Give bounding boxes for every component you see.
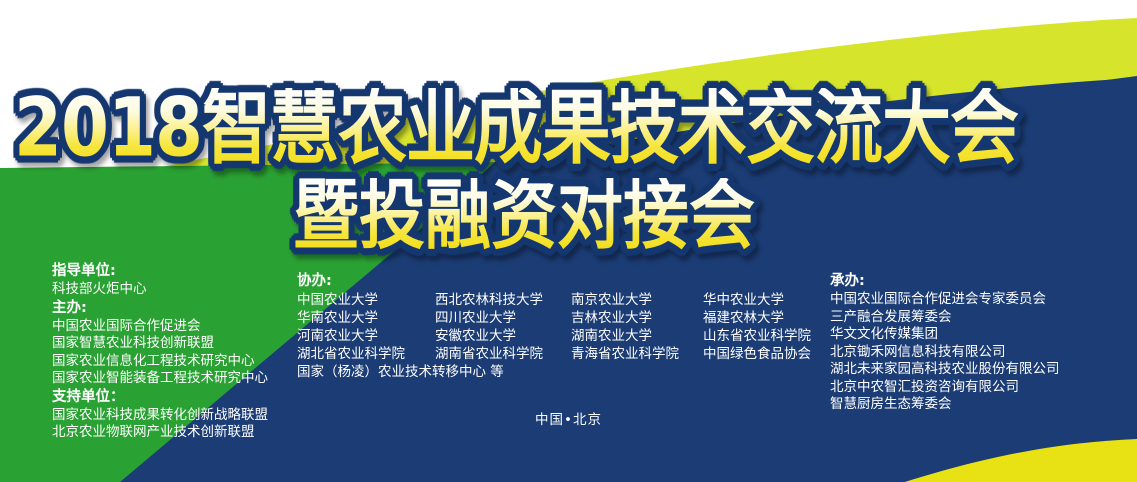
co-organizer-grid: 中国农业大学 西北农林科技大学 南京农业大学 华中农业大学 华南农业大学 四川农… — [297, 291, 811, 381]
co-organizer-cell: 湖北省农业科学院 — [297, 345, 435, 363]
left-header-support: 支持单位： — [52, 388, 268, 407]
co-organizer-cell: 四川农业大学 — [435, 309, 571, 327]
co-organizer-cell: 青海省农业科学院 — [571, 345, 703, 363]
co-organizer-cell: 湖南省农业科学院 — [435, 345, 571, 363]
left-header-host: 主办: — [52, 299, 268, 318]
co-organizer-cell: 西北农林科技大学 — [435, 291, 571, 309]
co-organizer-cell: 山东省农业科学院 — [703, 327, 811, 345]
undertakers-right-column: 承办: 中国农业国际合作促进会专家委员会 三产融合发展筹委会 华文文化传媒集团 … — [830, 272, 1060, 414]
left-line-guidance-1: 科技部火炬中心 — [52, 281, 268, 299]
left-line-host-1: 中国农业国际合作促进会 — [52, 318, 268, 336]
undertaker-line: 三产融合发展筹委会 — [830, 309, 1060, 327]
venue-label: 中国•北京 — [0, 408, 1137, 428]
co-organizer-cell: 吉林农业大学 — [571, 309, 703, 327]
undertaker-line: 华文文化传媒集团 — [830, 326, 1060, 344]
co-organizer-last-line: 国家（杨凌）农业技术转移中心 等 — [297, 363, 811, 381]
co-organizers-middle-column: 协办: 中国农业大学 西北农林科技大学 南京农业大学 华中农业大学 华南农业大学… — [297, 272, 811, 381]
undertaker-line: 北京锄禾网信息科技有限公司 — [830, 344, 1060, 362]
co-organizer-cell: 河南农业大学 — [297, 327, 435, 345]
co-organizer-cell: 华南农业大学 — [297, 309, 435, 327]
right-header-undertaker: 承办: — [830, 272, 1060, 291]
co-organizer-cell: 华中农业大学 — [703, 291, 811, 309]
undertaker-line: 中国农业国际合作促进会专家委员会 — [830, 291, 1060, 309]
co-organizer-cell: 南京农业大学 — [571, 291, 703, 309]
undertaker-line: 北京中农智汇投资咨询有限公司 — [830, 379, 1060, 397]
co-organizer-cell: 中国绿色食品协会 — [703, 345, 811, 363]
co-organizer-cell: 安徽农业大学 — [435, 327, 571, 345]
conference-banner: 2018智慧农业成果技术交流大会 暨投融资对接会 指导单位: 科技部火炬中心 主… — [0, 0, 1137, 482]
left-line-host-2: 国家智慧农业科技创新联盟 — [52, 335, 268, 353]
left-line-host-3: 国家农业信息化工程技术研究中心 — [52, 353, 268, 371]
left-line-host-4: 国家农业智能装备工程技术研究中心 — [52, 370, 268, 388]
middle-header-coorganizer: 协办: — [297, 272, 811, 291]
co-organizer-cell: 湖南农业大学 — [571, 327, 703, 345]
left-header-guidance: 指导单位: — [52, 262, 268, 281]
undertaker-line: 湖北未来家园高科技农业股份有限公司 — [830, 361, 1060, 379]
co-organizer-cell: 福建农林大学 — [703, 309, 811, 327]
co-organizer-cell: 中国农业大学 — [297, 291, 435, 309]
